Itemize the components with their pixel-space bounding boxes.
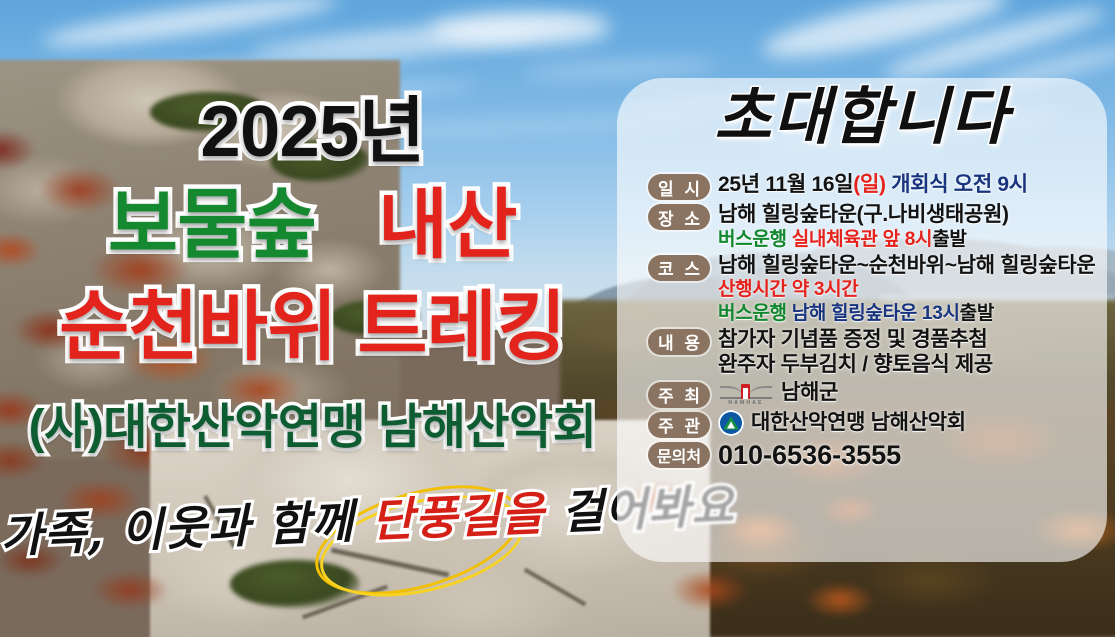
bridge-tower: [741, 384, 750, 399]
badge-place: 장 소: [648, 204, 710, 230]
content-line-2: 완주자 두부김치 / 향토음식 제공: [718, 353, 993, 376]
badge-date: 일 시: [648, 174, 710, 200]
info-value-place: 남해 힐링숲타운(구.나비생태공원) 버스운행 실내체육관 앞 8시출발: [718, 202, 1098, 251]
date-weekday: (일): [853, 173, 885, 196]
info-value-content: 참가자 기념품 증정 및 경품추첨 완주자 두부김치 / 향토음식 제공: [718, 327, 1098, 378]
panel-title: 초대합니다: [617, 86, 1107, 148]
bus-label: 버스운행: [718, 303, 792, 324]
bus-departure-suffix: 출발: [932, 229, 966, 250]
bus-return-suffix: 출발: [960, 303, 994, 324]
badge-course: 코 스: [648, 255, 710, 281]
badge-content: 내 용: [648, 329, 710, 355]
info-value-host: NAMHAE 남해군: [718, 380, 1098, 406]
info-line: 참가자 기념품 증정 및 경품추첨: [718, 327, 1098, 353]
bus-departure-point: 실내체육관 앞 8시: [792, 229, 933, 250]
bus-return-point: 남해 힐링숲타운 13시: [792, 303, 960, 324]
info-value-contact: 010-6536-3555: [718, 440, 1098, 471]
badge-contact: 문의처: [648, 442, 710, 468]
mountain-triangle-inner: [727, 422, 735, 429]
course-route: 남해 힐링숲타운~순천바위~남해 힐링숲타운: [718, 254, 1095, 277]
course-duration: 산행시간 약 3시간: [718, 279, 859, 300]
info-value-organizer: 대한산악연맹 남해산악회: [718, 410, 1098, 436]
info-row-contact: 문의처 010-6536-3555: [648, 440, 1098, 471]
host-name: 남해군: [781, 380, 838, 406]
namhae-logo-caption: NAMHAE: [719, 400, 773, 406]
shrub: [330, 300, 420, 336]
content-line-1: 참가자 기념품 증정 및 경품추첨: [718, 328, 987, 351]
contact-phone-number[interactable]: 010-6536-3555: [718, 440, 1098, 471]
info-line: 산행시간 약 3시간: [718, 278, 1098, 301]
info-rows: 일 시 25년 11월 16일(일) 개회식 오전 9시 장 소 남해 힐링숲타…: [648, 172, 1098, 473]
info-line: 남해 힐링숲타운~순천바위~남해 힐링숲타운: [718, 253, 1098, 279]
poster-canvas: 2025년 보물숲 내산 순천바위 트레킹 (사)대한산악연맹 남해산악회 가족…: [0, 0, 1115, 637]
date-ceremony: 개회식 오전 9시: [886, 173, 1028, 196]
badge-organizer: 주 관: [648, 412, 710, 438]
date-text: 25년 11월 16일: [718, 173, 853, 196]
info-row-organizer: 주 관 대한산악연맹 남해산악회: [648, 410, 1098, 438]
info-value-date: 25년 11월 16일(일) 개회식 오전 9시: [718, 172, 1098, 198]
bus-label: 버스운행: [718, 229, 792, 250]
info-line: 25년 11월 16일(일) 개회식 오전 9시: [718, 172, 1098, 198]
info-row-date: 일 시 25년 11월 16일(일) 개회식 오전 9시: [648, 172, 1098, 200]
info-line: 완주자 두부김치 / 향토음식 제공: [718, 352, 1098, 378]
cloud-icon: [430, 12, 610, 46]
namhae-gun-bridge-icon: NAMHAE: [718, 380, 774, 406]
info-line: 버스운행 실내체육관 앞 8시출발: [718, 228, 1098, 251]
info-line: 버스운행 남해 힐링숲타운 13시출발: [718, 302, 1098, 325]
organizer-name: 대한산악연맹 남해산악회: [751, 410, 966, 436]
info-row-content: 내 용 참가자 기념품 증정 및 경품추첨 완주자 두부김치 / 향토음식 제공: [648, 327, 1098, 378]
info-row-place: 장 소 남해 힐링숲타운(구.나비생태공원) 버스운행 실내체육관 앞 8시출발: [648, 202, 1098, 251]
korean-alpine-federation-icon: [718, 410, 744, 436]
badge-host: 주 최: [648, 382, 710, 408]
info-value-course: 남해 힐링숲타운~순천바위~남해 힐링숲타운 산행시간 약 3시간 버스운행 남…: [718, 253, 1098, 325]
info-row-host: 주 최 NAMHAE 남해군: [648, 380, 1098, 408]
shrub: [150, 92, 270, 132]
info-row-course: 코 스 남해 힐링숲타운~순천바위~남해 힐링숲타운 산행시간 약 3시간 버스…: [648, 253, 1098, 325]
autumn-foliage-bottom-left: [0, 430, 210, 637]
place-name: 남해 힐링숲타운(구.나비생태공원): [718, 203, 1009, 226]
info-line: 남해 힐링숲타운(구.나비생태공원): [718, 202, 1098, 228]
shrub: [270, 140, 370, 182]
